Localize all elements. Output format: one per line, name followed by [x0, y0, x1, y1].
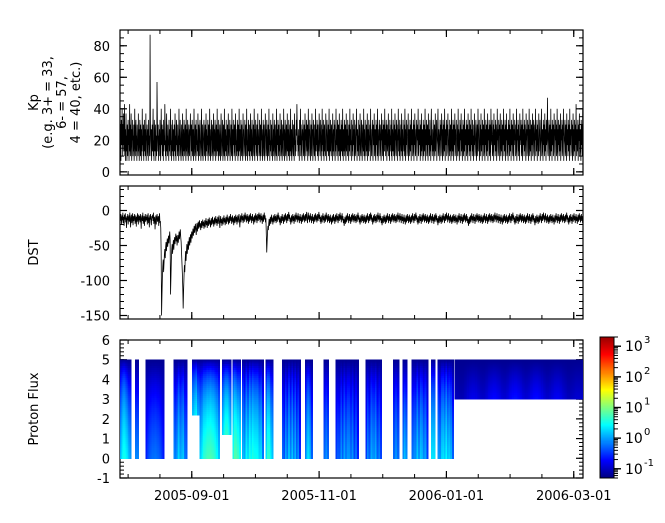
proton-stripe-5	[200, 360, 221, 459]
proton-cell	[230, 433, 232, 436]
proton-cell	[162, 456, 164, 459]
y-tick-label: 0	[102, 452, 110, 467]
proton-cell	[262, 456, 264, 459]
y-tick-label: -1	[97, 472, 110, 487]
figure-root: 0204060800-50-100-150-101234562005-09-01…	[0, 0, 665, 523]
x-tick-label: 2005-09-01	[154, 489, 230, 504]
multi-panel-space-weather-figure: 0204060800-50-100-150-101234562005-09-01…	[0, 0, 665, 523]
y-tick-label: 0	[102, 205, 110, 220]
y-tick-label: -50	[89, 240, 110, 255]
proton-cell	[186, 456, 188, 459]
proton-stripe-13	[335, 360, 359, 459]
y-tick-label: 40	[93, 103, 110, 118]
proton-flux-heatmap	[120, 360, 584, 459]
proton-cell	[327, 456, 329, 459]
proton-stripe-8	[242, 360, 264, 459]
proton-cell	[197, 413, 199, 416]
proton-cell	[130, 456, 132, 459]
y-tick-label: 60	[93, 71, 110, 86]
proton-stripe-3	[173, 360, 187, 459]
y-tick-label: 3	[102, 393, 110, 408]
y-tick-label: 1	[102, 433, 110, 448]
proton-cell	[137, 456, 139, 459]
y-tick-label: 5	[102, 354, 110, 369]
proton-stripe-11	[305, 360, 313, 459]
kp-series-line	[120, 35, 583, 161]
y-tick-label: -100	[80, 275, 110, 290]
y-tick-label: 0	[102, 166, 110, 181]
proton-stripe-10	[282, 360, 301, 459]
y-tick-label: 4	[102, 373, 110, 388]
x-tick-label: 2005-11-01	[281, 489, 357, 504]
proton-stripe-7	[233, 360, 241, 459]
proton-stripe-1	[135, 360, 139, 459]
proton-stripe-4	[192, 360, 199, 416]
proton-stripe-2	[145, 360, 164, 459]
proton-cell	[239, 456, 241, 459]
y-tick-label: 6	[102, 334, 110, 349]
y-tick-label: 20	[93, 134, 110, 149]
y-tick-label: 80	[93, 40, 110, 55]
proton-stripe-12	[324, 360, 329, 459]
x-tick-label: 2006-03-01	[536, 489, 612, 504]
proton-cell	[311, 456, 313, 459]
y-tick-label: -150	[80, 310, 110, 325]
proton-cell	[299, 456, 301, 459]
y-tick-label: 2	[102, 413, 110, 428]
dst-series-line	[120, 212, 583, 316]
x-tick-label: 2006-01-01	[409, 489, 485, 504]
proton-stripe-0	[120, 360, 132, 459]
proton-cell	[218, 456, 220, 459]
panel-frame-1	[120, 186, 583, 319]
proton-stripe-6	[222, 360, 232, 436]
proton-stripe-9	[265, 360, 273, 459]
proton-cell	[271, 456, 273, 459]
